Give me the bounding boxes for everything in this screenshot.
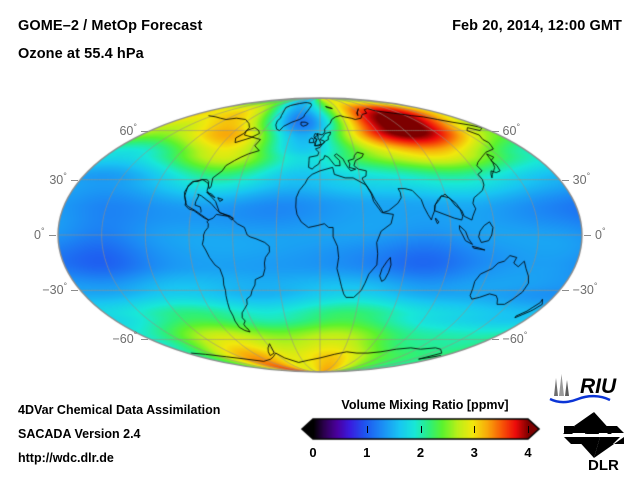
latitude-label-30-right: 30° [573, 171, 591, 187]
latitude-label-30-left: 30° [49, 171, 67, 187]
colorbar-tick-mark [313, 426, 314, 433]
latitude-label-minus30-right: −30° [573, 281, 598, 297]
page-title: GOME–2 / MetOp Forecast [18, 18, 202, 34]
world-ozone-map [0, 78, 640, 398]
dlr-logo: DLR [562, 410, 626, 472]
latitude-tick-mark [141, 131, 148, 132]
latitude-label-60-left: 60° [119, 122, 137, 138]
colorbar-tick-mark [528, 426, 529, 433]
latitude-tick-mark [562, 290, 569, 291]
latitude-tick-mark [584, 235, 591, 236]
institution-logos: RIU DLR [548, 372, 640, 476]
colorbar-tick-2: 2 [417, 445, 424, 460]
colorbar-legend: Volume Mixing Ratio [ppmv] 01234 [300, 398, 550, 476]
riu-logo: RIU [548, 372, 636, 406]
footer-line-url: http://wdc.dlr.de [18, 451, 114, 465]
riu-wordmark: RIU [580, 375, 617, 398]
latitude-tick-mark [49, 235, 56, 236]
latitude-label-0-right: 0° [595, 226, 606, 242]
colorbar-tick-3: 3 [471, 445, 478, 460]
footer-line-version: SACADA Version 2.4 [18, 427, 141, 441]
footer-line-assimilation: 4DVar Chemical Data Assimilation [18, 403, 220, 417]
colorbar-gradient [300, 416, 550, 442]
latitude-tick-mark [71, 290, 78, 291]
latitude-tick-mark [141, 339, 148, 340]
latitude-label-minus60-right: −60° [503, 330, 528, 346]
latitude-label-minus60-left: −60° [112, 330, 137, 346]
ozone-forecast-figure: GOME–2 / MetOp Forecast Ozone at 55.4 hP… [0, 0, 640, 480]
latitude-tick-mark [71, 180, 78, 181]
colorbar-tick-4: 4 [524, 445, 531, 460]
colorbar-tick-mark [474, 426, 475, 433]
colorbar-title: Volume Mixing Ratio [ppmv] [300, 398, 550, 412]
riu-towers-icon [554, 374, 569, 396]
latitude-label-0-left: 0° [34, 226, 45, 242]
latitude-tick-mark [562, 180, 569, 181]
colorbar-tick-mark [367, 426, 368, 433]
colorbar-tick-0: 0 [309, 445, 316, 460]
timestamp-label: Feb 20, 2014, 12:00 GMT [452, 18, 622, 34]
latitude-label-minus30-left: −30° [42, 281, 67, 297]
colorbar-tick-1: 1 [363, 445, 370, 460]
dlr-wordmark: DLR [588, 457, 619, 472]
latitude-tick-mark [492, 131, 499, 132]
page-subtitle: Ozone at 55.4 hPa [18, 46, 144, 62]
latitude-tick-mark [492, 339, 499, 340]
colorbar-tick-mark [421, 426, 422, 433]
latitude-label-60-right: 60° [503, 122, 521, 138]
